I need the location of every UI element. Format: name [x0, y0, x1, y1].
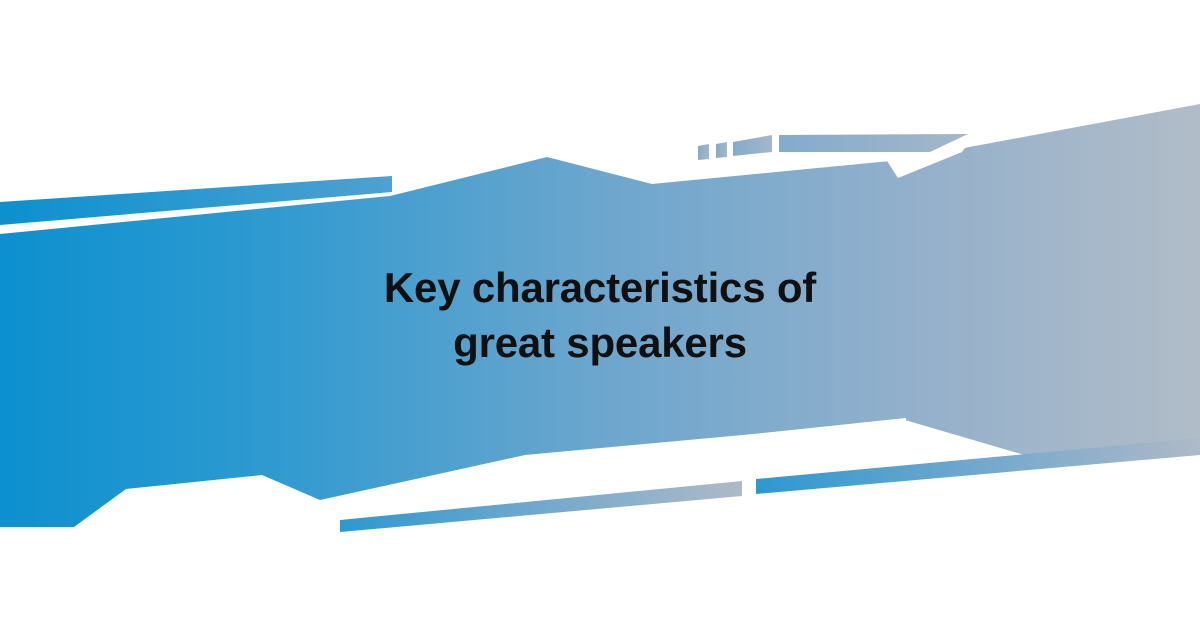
banner: Key characteristics of great speakers [0, 0, 1200, 630]
decorative-banner-graphic [0, 0, 1200, 630]
